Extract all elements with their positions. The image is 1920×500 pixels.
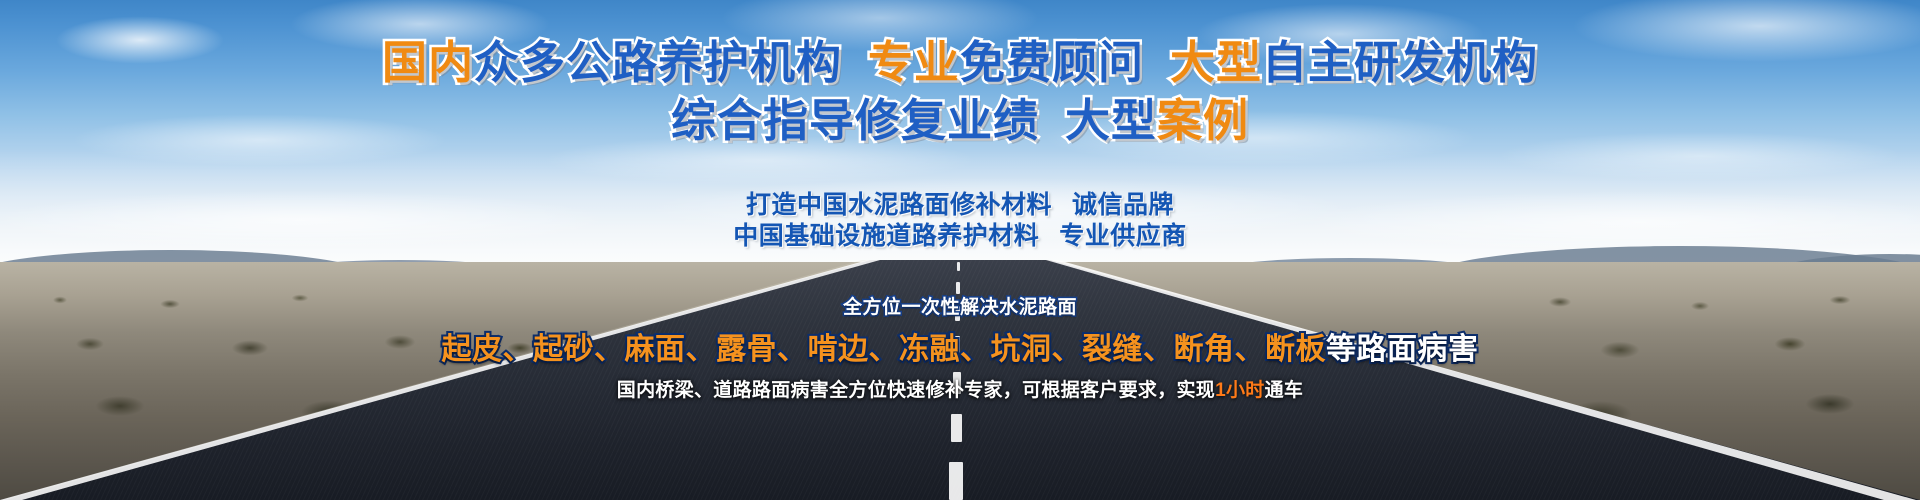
center-dash-marking xyxy=(951,414,962,442)
subtitle-line-1: 打造中国水泥路面修补材料诚信品牌 xyxy=(0,190,1920,221)
subtitle-block: 打造中国水泥路面修补材料诚信品牌 中国基础设施道路养护材料专业供应商 xyxy=(0,190,1920,251)
headline-seg-8: 大型 xyxy=(1065,95,1157,146)
subtitle-line-2: 中国基础设施道路养护材料专业供应商 xyxy=(0,221,1920,252)
road-text-block: 全方位一次性解决水泥路面 起皮、起砂、麻面、露骨、啃边、冻融、坑洞、裂缝、断角、… xyxy=(0,292,1920,402)
headline-seg-7: 综合指导修复业绩 xyxy=(671,95,1039,146)
promotional-banner: 国内众多公路养护机构专业免费顾问大型自主研发机构 综合指导修复业绩大型案例 打造… xyxy=(0,0,1920,500)
road-bottom-post: 通车 xyxy=(1265,380,1304,401)
road-defects-white: 等路面病害 xyxy=(1326,333,1479,366)
road-defects-orange: 起皮、起砂、麻面、露骨、啃边、冻融、坑洞、裂缝、断角、断板 xyxy=(442,333,1327,366)
road-bottom-highlight: 1小时 xyxy=(1215,380,1264,401)
subtitle-line-2-left: 中国基础设施道路养护材料 xyxy=(733,222,1039,250)
headline-block: 国内众多公路养护机构专业免费顾问大型自主研发机构 综合指导修复业绩大型案例 xyxy=(0,40,1920,144)
headline-line-2: 综合指导修复业绩大型案例 xyxy=(0,98,1920,144)
headline-seg-6: 自主研发机构 xyxy=(1262,37,1538,88)
headline-seg-4: 免费顾问 xyxy=(960,37,1144,88)
headline-seg-3: 专业 xyxy=(868,37,960,88)
subtitle-line-1-left: 打造中国水泥路面修补材料 xyxy=(746,191,1052,219)
road-bottom-line: 国内桥梁、道路路面病害全方位快速修补专家，可根据客户要求，实现1小时通车 xyxy=(0,375,1920,402)
headline-seg-9: 案例 xyxy=(1157,95,1249,146)
road-defects-line: 起皮、起砂、麻面、露骨、啃边、冻融、坑洞、裂缝、断角、断板等路面病害 xyxy=(0,324,1920,368)
headline-seg-1: 国内 xyxy=(382,37,474,88)
center-dash-marking xyxy=(957,262,960,271)
headline-seg-2: 众多公路养护机构 xyxy=(474,37,842,88)
center-dash-marking xyxy=(949,462,963,500)
road-caption: 全方位一次性解决水泥路面 xyxy=(0,292,1920,319)
headline-line-1: 国内众多公路养护机构专业免费顾问大型自主研发机构 xyxy=(0,40,1920,86)
subtitle-line-2-right: 专业供应商 xyxy=(1059,222,1187,250)
road-bottom-pre: 国内桥梁、道路路面病害全方位快速修补专家，可根据客户要求，实现 xyxy=(617,380,1215,401)
subtitle-line-1-right: 诚信品牌 xyxy=(1072,191,1174,219)
headline-seg-5: 大型 xyxy=(1170,37,1262,88)
